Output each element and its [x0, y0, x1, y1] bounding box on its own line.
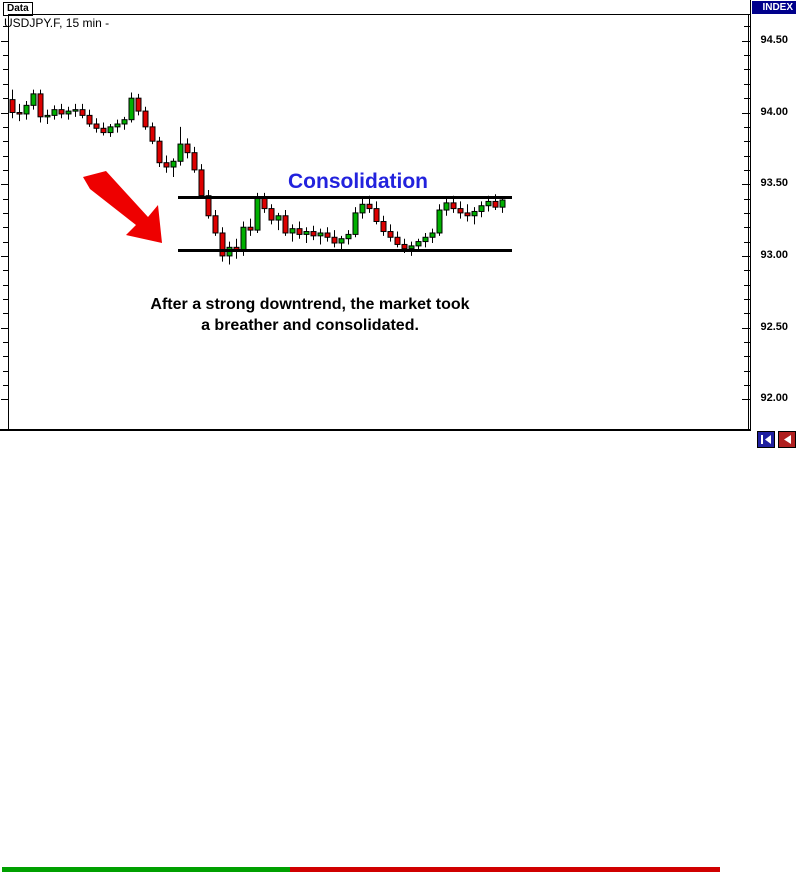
candle-body — [52, 110, 57, 116]
candle-body — [115, 124, 120, 127]
candle-body — [353, 213, 358, 235]
candle-body — [192, 153, 197, 170]
caption-line-1: After a strong downtrend, the market too… — [60, 294, 560, 315]
candle-body — [31, 94, 36, 105]
candle-body — [472, 211, 477, 215]
caption-line-2: a breather and consolidated. — [60, 315, 560, 336]
scroll-to-start-button[interactable] — [757, 431, 775, 448]
candle-body — [101, 128, 106, 132]
candle-body — [297, 229, 302, 235]
candle-body — [283, 216, 288, 233]
candle-body — [38, 94, 43, 117]
candle-body — [59, 110, 64, 114]
candle-body — [339, 239, 344, 243]
candle-body — [346, 234, 351, 238]
candle-body — [17, 113, 22, 115]
candle-body — [276, 216, 281, 220]
candle-body — [458, 209, 463, 213]
candle-body — [150, 127, 155, 141]
candle-body — [493, 201, 498, 207]
candle-body — [87, 115, 92, 124]
navigation-buttons — [757, 431, 796, 448]
horizontal-scrollbar[interactable] — [0, 433, 749, 440]
candle-body — [430, 233, 435, 237]
consolidation-annotation: Consolidation — [288, 170, 428, 194]
candle-body — [122, 120, 127, 124]
candle-body — [416, 242, 421, 246]
candle-body — [444, 203, 449, 210]
candle-body — [395, 237, 400, 244]
candle-body — [80, 110, 85, 116]
candle-body — [311, 232, 316, 236]
downtrend-arrow-icon — [70, 165, 180, 275]
candle-body — [66, 111, 71, 114]
sr-line-support — [178, 249, 512, 252]
candle-body — [185, 144, 190, 153]
candle-body — [465, 213, 470, 216]
candle-body — [381, 222, 386, 232]
candle-body — [213, 216, 218, 233]
candle-body — [94, 124, 99, 128]
sr-line-resistance — [178, 196, 512, 199]
arrow-left-icon — [782, 435, 793, 444]
candle-body — [486, 201, 491, 205]
scrollbar-green-segment[interactable] — [2, 867, 290, 872]
candle-body — [500, 200, 505, 207]
candle-body — [374, 209, 379, 222]
caption-text: After a strong downtrend, the market too… — [60, 294, 560, 336]
candle-body — [290, 229, 295, 233]
candle-body — [304, 232, 309, 235]
candle-body — [129, 98, 134, 120]
candle-body — [136, 98, 141, 111]
candle-body — [318, 233, 323, 236]
candle-body — [248, 227, 253, 230]
candle-body — [360, 204, 365, 213]
chart-window: Data USDJPY.F, 15 min - INDEX 94.5094.00… — [0, 0, 796, 448]
candle-body — [262, 199, 267, 209]
candle-body — [157, 141, 162, 163]
arrow-to-bar-left-icon — [761, 435, 772, 444]
candle-body — [178, 144, 183, 161]
candle-body — [24, 105, 29, 114]
candle-body — [437, 210, 442, 233]
candle-body — [332, 237, 337, 243]
candle-body — [325, 233, 330, 237]
candle-body — [255, 199, 260, 231]
candle-body — [367, 204, 372, 208]
candle-body — [451, 203, 456, 209]
scroll-left-button[interactable] — [778, 431, 796, 448]
candle-body — [220, 233, 225, 256]
candle-body — [108, 127, 113, 133]
candle-body — [143, 111, 148, 127]
candle-body — [269, 209, 274, 220]
candle-body — [479, 206, 484, 212]
scrollbar-red-segment[interactable] — [290, 867, 720, 872]
candle-body — [241, 227, 246, 250]
candle-body — [423, 237, 428, 241]
candle-body — [10, 100, 15, 113]
candle-body — [45, 115, 50, 117]
candle-body — [199, 170, 204, 196]
candle-body — [73, 110, 78, 112]
candle-body — [388, 232, 393, 238]
